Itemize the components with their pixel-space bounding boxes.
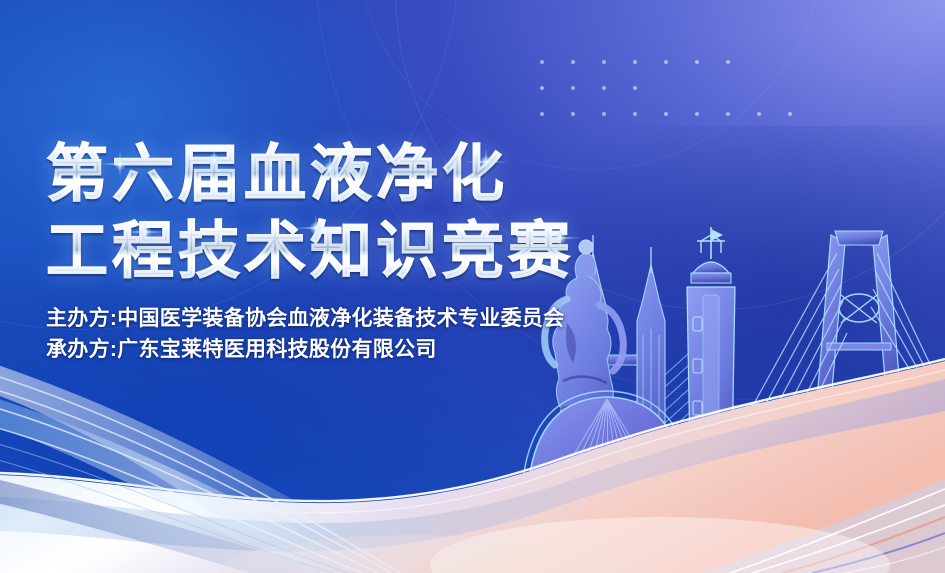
co-organizer-line: 承办方:广东宝莱特医用科技股份有限公司 bbox=[46, 334, 565, 365]
grid-dot-icon bbox=[757, 102, 788, 128]
grid-dot-icon bbox=[726, 50, 757, 76]
grid-dot-icon bbox=[633, 76, 664, 102]
grid-dot-icon bbox=[788, 102, 819, 128]
page-title-line-1: 第六届血液净化 bbox=[46, 140, 574, 211]
grid-dot-icon bbox=[571, 102, 602, 128]
grid-dot-icon bbox=[602, 102, 633, 128]
dot-grid-row bbox=[540, 102, 819, 128]
dot-grid-row bbox=[540, 50, 819, 76]
city-skyline-illustration bbox=[515, 213, 945, 573]
grid-dot-icon bbox=[633, 50, 664, 76]
title-block: 第六届血液净化 工程技术知识竞赛 bbox=[46, 140, 574, 287]
grid-dot-icon bbox=[540, 50, 571, 76]
grid-dot-icon bbox=[540, 76, 571, 102]
page-title-line-2: 工程技术知识竞赛 bbox=[46, 217, 574, 288]
grid-dot-icon bbox=[695, 50, 726, 76]
grid-dot-icon bbox=[571, 76, 602, 102]
grid-dot-icon bbox=[602, 76, 633, 102]
grid-dot-icon bbox=[633, 102, 664, 128]
grid-dot-icon bbox=[664, 50, 695, 76]
grid-dot-icon bbox=[664, 102, 695, 128]
grid-dot-icon bbox=[540, 102, 571, 128]
grid-dot-icon bbox=[602, 50, 633, 76]
dot-grid-pattern bbox=[540, 50, 819, 128]
dot-grid-row bbox=[540, 76, 819, 102]
organizer-line: 主办方:中国医学装备协会血液净化装备技术专业委员会 bbox=[46, 303, 565, 334]
event-banner: 第六届血液净化 工程技术知识竞赛 主办方:中国医学装备协会血液净化装备技术专业委… bbox=[0, 0, 945, 573]
subtitle-block: 主办方:中国医学装备协会血液净化装备技术专业委员会 承办方:广东宝莱特医用科技股… bbox=[46, 303, 565, 365]
grid-dot-icon bbox=[571, 50, 602, 76]
grid-dot-icon bbox=[726, 102, 757, 128]
grid-dot-icon bbox=[695, 102, 726, 128]
